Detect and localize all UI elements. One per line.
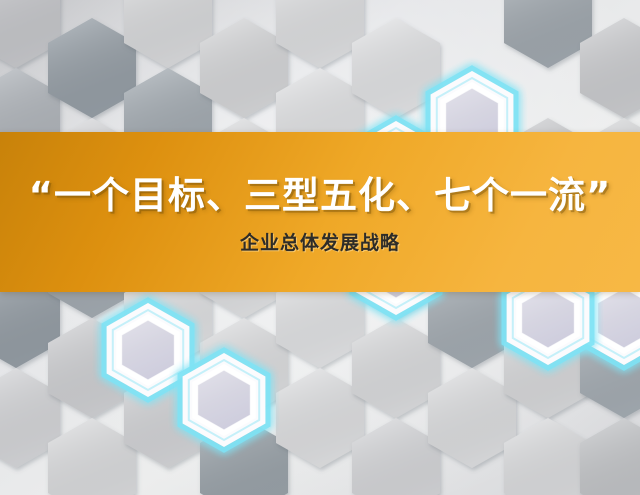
presentation-slide: “一个目标、三型五化、七个一流” 企业总体发展战略 [0,0,640,495]
title-banner: “一个目标、三型五化、七个一流” 企业总体发展战略 [0,132,640,292]
hexagon-glow-tile [180,350,268,450]
slide-subtitle: 企业总体发展战略 [240,234,400,253]
slide-headline: “一个目标、三型五化、七个一流” [29,177,612,214]
